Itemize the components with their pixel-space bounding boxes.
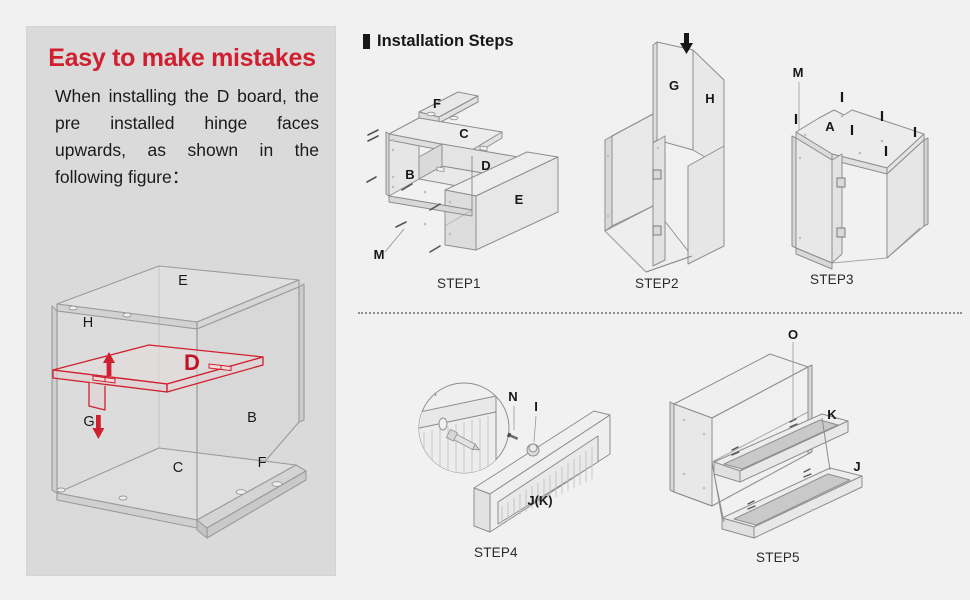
step1-figure: F C B D E M xyxy=(362,82,582,272)
step1-caption: STEP1 xyxy=(437,276,481,291)
step5-label-O: O xyxy=(788,327,798,342)
mistake-isometric-figure: E H G B C F D xyxy=(31,252,331,572)
label-D: D xyxy=(184,350,200,375)
label-H: H xyxy=(83,315,93,331)
mistake-body-text: When installing the D board, the pre ins… xyxy=(55,83,319,191)
label-B: B xyxy=(247,410,257,426)
installation-steps-panel: Installation Steps xyxy=(352,0,970,600)
instruction-sheet: Easy to make mistakes When installing th… xyxy=(0,0,970,600)
step4-figure: N I J(K) xyxy=(430,378,660,543)
step5-label-K: K xyxy=(827,407,837,422)
step5-caption: STEP5 xyxy=(756,550,800,565)
label-F: F xyxy=(258,455,267,471)
step5-figure: O K J xyxy=(662,322,912,542)
step2-label-H: H xyxy=(705,91,714,106)
step1-label-D: D xyxy=(481,158,490,173)
step2-label-G: G xyxy=(669,78,679,93)
step3-label-A: A xyxy=(825,119,835,134)
step4-caption: STEP4 xyxy=(474,545,518,560)
label-C: C xyxy=(173,460,183,476)
label-G: G xyxy=(83,414,94,430)
step1-label-M: M xyxy=(374,247,385,262)
step1-label-F: F xyxy=(433,96,441,111)
step4-label-N: N xyxy=(508,389,517,404)
step2-figure: G H xyxy=(600,28,770,276)
step5-label-J: J xyxy=(853,459,860,474)
step1-label-E: E xyxy=(515,192,524,207)
installation-header: Installation Steps xyxy=(363,32,514,51)
step2-caption: STEP2 xyxy=(635,276,679,291)
installation-title: Installation Steps xyxy=(377,32,514,51)
section-divider xyxy=(358,312,962,314)
square-bullet-icon xyxy=(363,34,370,49)
step3-label-M: M xyxy=(793,65,804,80)
step3-caption: STEP3 xyxy=(810,272,854,287)
magnifier-detail-circle xyxy=(410,383,509,490)
door-knob xyxy=(527,444,539,456)
step1-label-B: B xyxy=(405,167,414,182)
step3-figure: M A xyxy=(772,58,952,273)
step4-label-I: I xyxy=(534,399,538,414)
mistake-title: Easy to make mistakes xyxy=(36,44,328,73)
label-E: E xyxy=(178,273,188,289)
mistake-warning-panel: Easy to make mistakes When installing th… xyxy=(27,27,335,575)
step1-label-C: C xyxy=(459,126,469,141)
step4-label-JK: J(K) xyxy=(527,493,552,508)
